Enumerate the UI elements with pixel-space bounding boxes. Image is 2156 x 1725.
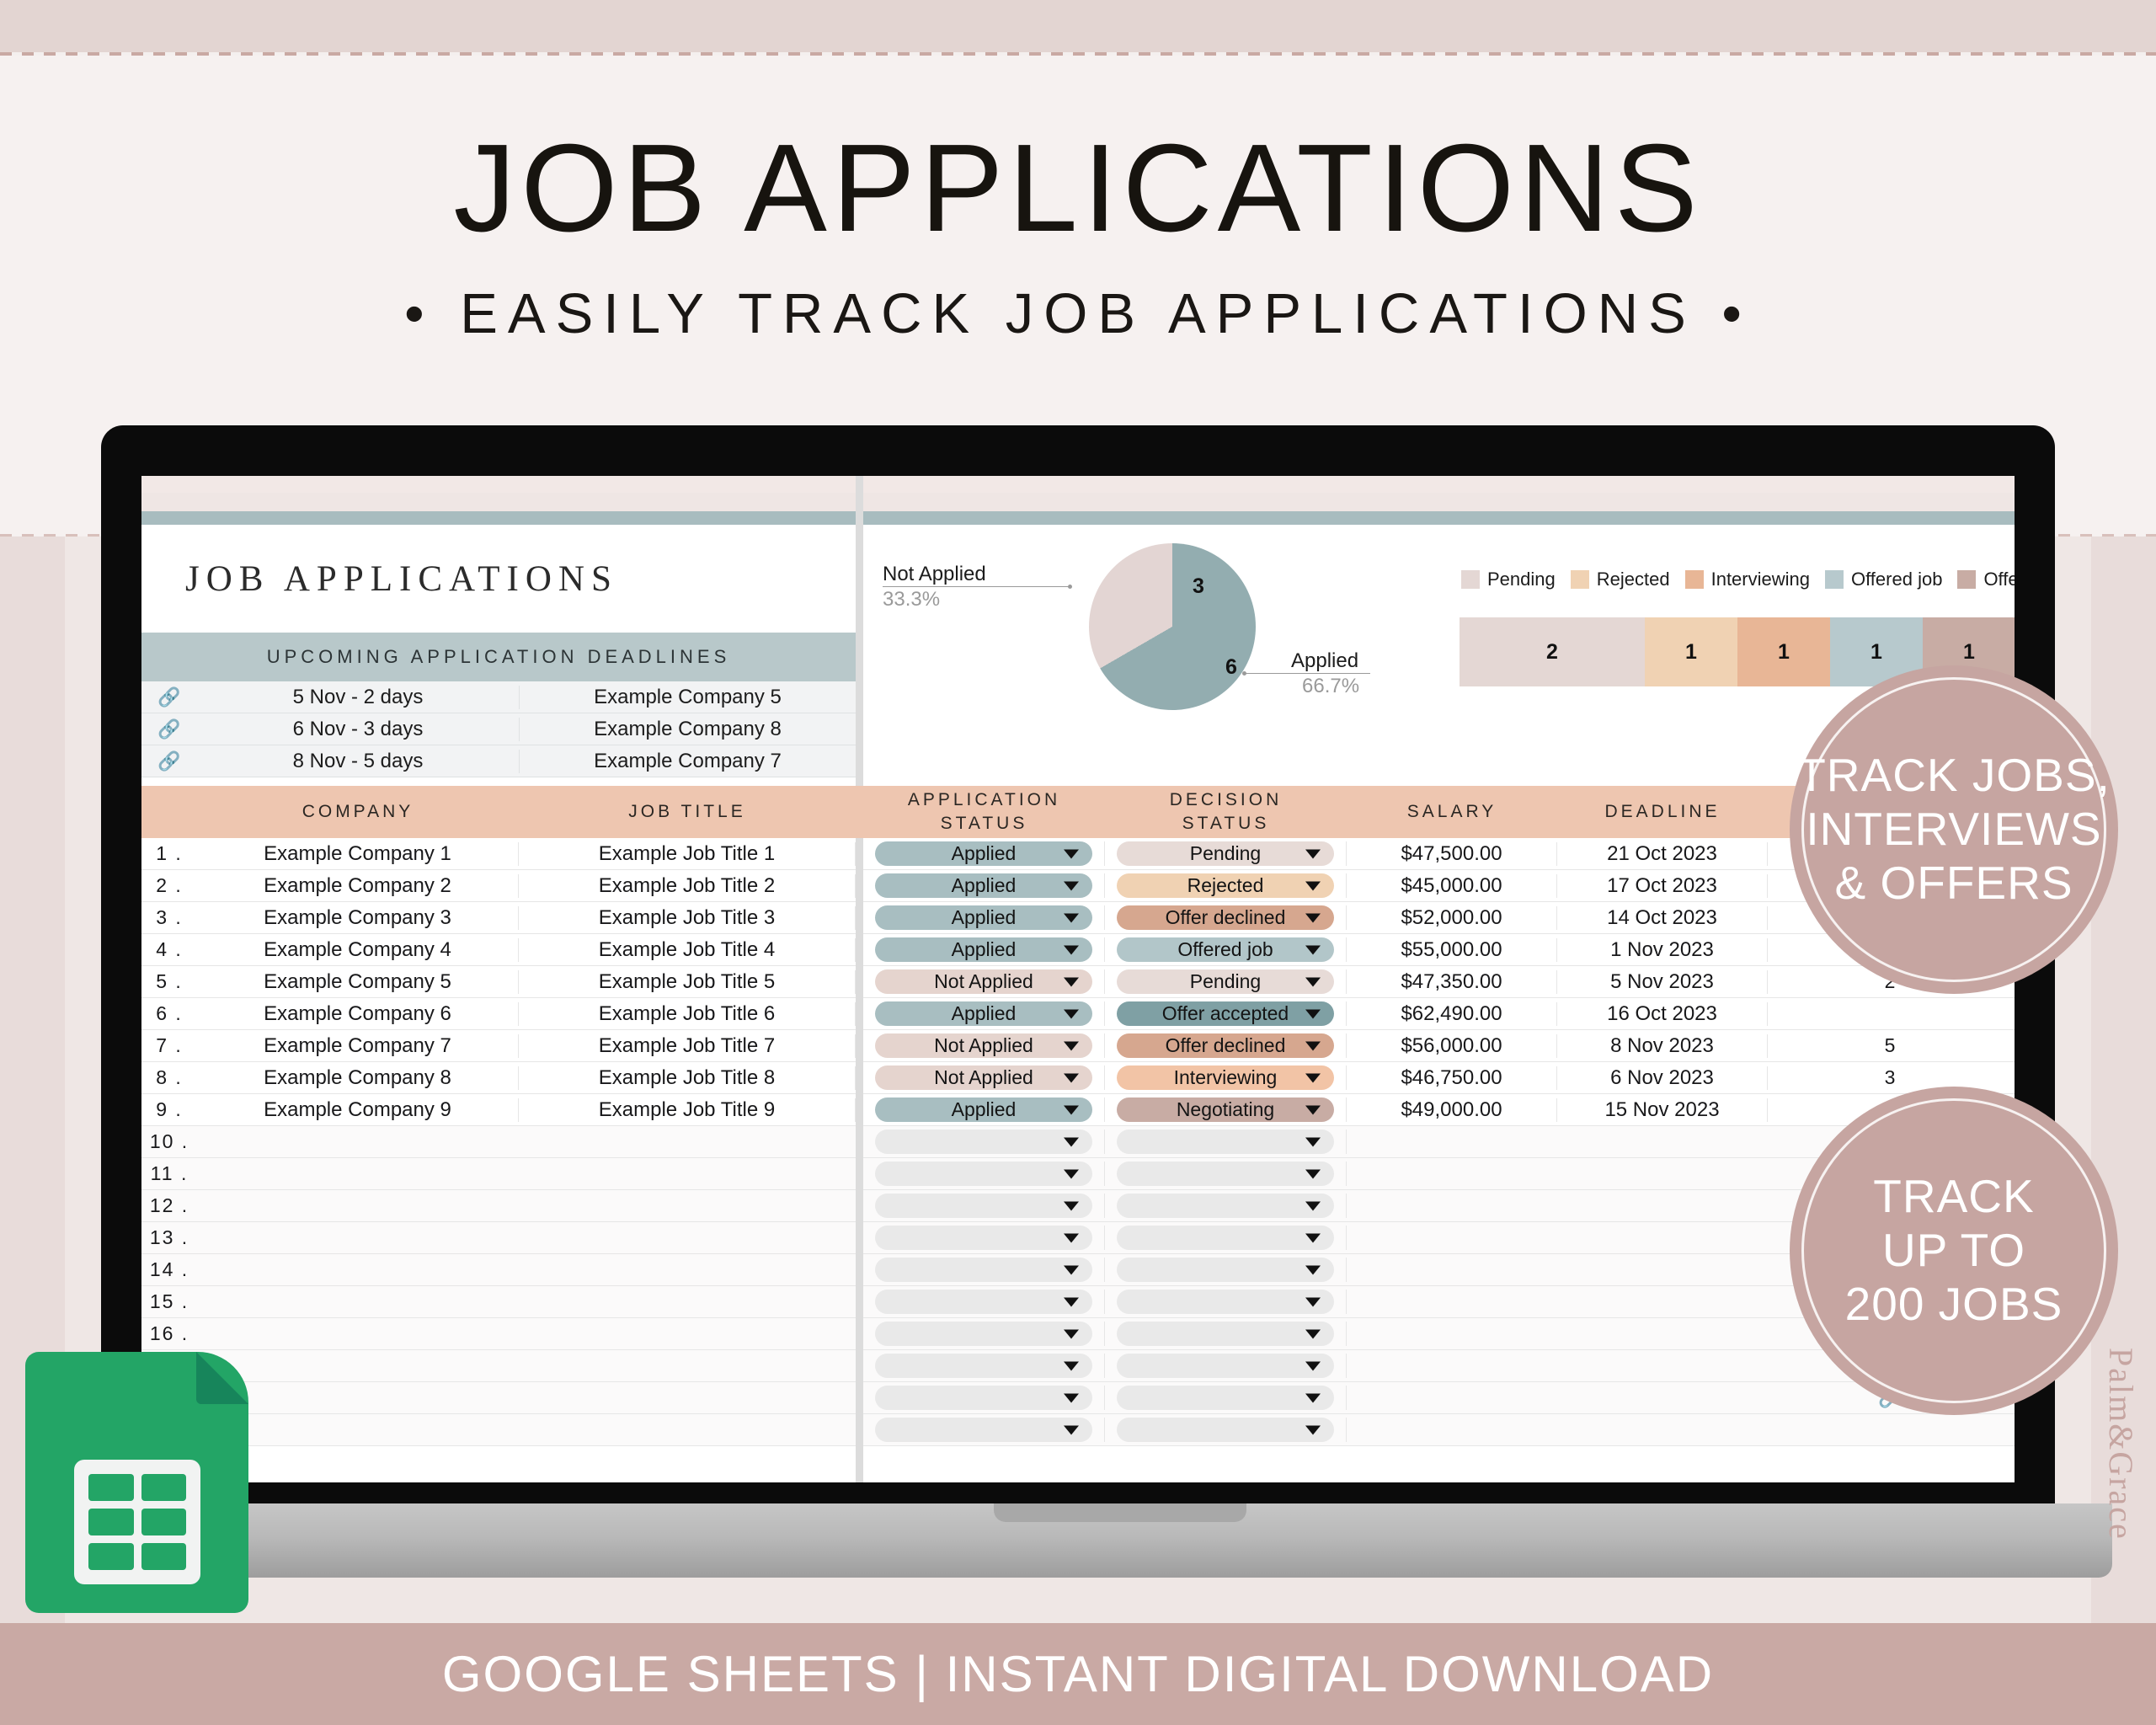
pie-label-applied: Applied <box>1291 649 1358 673</box>
cell-deadline[interactable]: 6 Nov 2023 <box>1557 1066 1768 1090</box>
cell-application-status[interactable] <box>863 1386 1105 1410</box>
chevron-down-icon[interactable] <box>1305 1041 1321 1050</box>
chevron-down-icon[interactable] <box>1305 1329 1321 1338</box>
cell-application-status[interactable]: Applied <box>863 1097 1105 1122</box>
link-icon[interactable]: 🔗 <box>141 750 197 772</box>
pie-leader-dot-applied <box>1242 671 1246 676</box>
cell-gap <box>856 1094 863 1126</box>
row-index: 2 . <box>141 874 197 897</box>
chevron-down-icon[interactable] <box>1064 1009 1079 1018</box>
legend-item: Interviewing <box>1685 569 1810 590</box>
pie-value-not-applied: 3 <box>1193 574 1204 599</box>
deadline-row[interactable]: 🔗6 Nov - 3 daysExample Company 8 <box>141 713 856 745</box>
application-status-dropdown[interactable] <box>875 1354 1092 1378</box>
cell-salary[interactable]: $45,000.00 <box>1347 874 1557 898</box>
cell-gap <box>856 998 863 1030</box>
bar-chart-legend: PendingRejectedInterviewingOffered jobOf… <box>1461 569 2015 590</box>
pie-value-applied: 6 <box>1225 655 1237 680</box>
decision-status-dropdown[interactable] <box>1117 1162 1334 1186</box>
cell-company[interactable]: Example Company 1 <box>197 842 519 866</box>
deadline-date: 8 Nov - 5 days <box>197 750 519 773</box>
cell-job-title[interactable]: Example Job Title 4 <box>519 938 856 962</box>
deadline-row[interactable]: 🔗8 Nov - 5 daysExample Company 7 <box>141 745 856 777</box>
decision-status-dropdown[interactable] <box>1117 1354 1334 1378</box>
table-row[interactable]: 12 . <box>141 1190 2015 1222</box>
decision-status-dropdown[interactable] <box>1117 1290 1334 1314</box>
cell-gap <box>856 902 863 934</box>
cell-gap <box>856 1286 863 1318</box>
sheet-toolbar-strip-secondary <box>141 493 2015 511</box>
cell-gap <box>856 1062 863 1094</box>
cell-application-status[interactable]: Not Applied <box>863 1033 1105 1058</box>
row-index: 11 . <box>141 1162 197 1185</box>
badge-track-jobs-text: TRACK JOBS, INTERVIEWS & OFFERS <box>1797 749 2111 910</box>
table-row[interactable]: 🔗 <box>141 1350 2015 1382</box>
decision-status-dropdown[interactable] <box>1117 1130 1334 1154</box>
application-status-pie-chart: 3 6 Not Applied 33.3% Applied 66.7% <box>863 525 1453 786</box>
row-index: 6 . <box>141 1002 197 1025</box>
application-status-dropdown[interactable]: Applied <box>875 841 1092 866</box>
bar-segment: 1 <box>1737 617 1830 686</box>
cell-company[interactable]: Example Company 9 <box>197 1098 519 1122</box>
cell-decision-status[interactable]: Offer declined <box>1105 905 1347 930</box>
cell-deadline[interactable]: 1 Nov 2023 <box>1557 938 1768 962</box>
bar-segment: 1 <box>1645 617 1737 686</box>
deadline-date: 6 Nov - 3 days <box>197 718 519 741</box>
decision-status-label: Rejected <box>1187 874 1264 897</box>
table-row[interactable]: 🔗 <box>141 1382 2015 1414</box>
column-header-decision-status: DECISION STATUS <box>1105 788 1347 836</box>
cell-application-status[interactable] <box>863 1258 1105 1282</box>
table-row[interactable] <box>141 1414 2015 1446</box>
application-status-label: Applied <box>952 906 1017 929</box>
cell-job-title[interactable]: Example Job Title 7 <box>519 1034 856 1058</box>
cell-decision-status[interactable]: Pending <box>1105 841 1347 866</box>
deadlines-header: UPCOMING APPLICATION DEADLINES <box>141 633 856 681</box>
cell-job-title[interactable]: Example Job Title 1 <box>519 842 856 866</box>
cell-company[interactable]: Example Company 4 <box>197 938 519 962</box>
cell-decision-status[interactable] <box>1105 1354 1347 1378</box>
cell-salary[interactable]: $62,490.00 <box>1347 1002 1557 1026</box>
cell-application-status[interactable]: Applied <box>863 873 1105 898</box>
application-status-dropdown[interactable] <box>875 1162 1092 1186</box>
spreadsheet: JOB APPLICATIONS UPCOMING APPLICATION DE… <box>141 476 2015 1482</box>
cell-job-title[interactable]: Example Job Title 6 <box>519 1002 856 1026</box>
row-index: 5 . <box>141 970 197 993</box>
decision-status-label: Offer accepted <box>1162 1002 1289 1025</box>
cell-gap <box>856 1222 863 1254</box>
chevron-down-icon[interactable] <box>1064 913 1079 922</box>
decision-status-label: Negotiating <box>1177 1098 1274 1121</box>
cell-gap <box>856 1158 863 1190</box>
table-row[interactable]: 6 .Example Company 6Example Job Title 6A… <box>141 998 2015 1030</box>
table-row[interactable]: 15 . <box>141 1286 2015 1318</box>
bar-segment: 2 <box>1460 617 1645 686</box>
chevron-down-icon[interactable] <box>1064 1297 1079 1306</box>
decision-status-dropdown[interactable]: Pending <box>1117 841 1334 866</box>
pie-label-not-applied: Not Applied <box>883 563 986 586</box>
decision-status-dropdown[interactable]: Offer accepted <box>1117 1001 1334 1026</box>
application-status-dropdown[interactable] <box>875 1418 1092 1442</box>
decision-status-dropdown[interactable] <box>1117 1322 1334 1346</box>
decision-status-label: Offered job <box>1177 938 1273 961</box>
chevron-down-icon[interactable] <box>1305 1201 1321 1210</box>
cell-decision-status[interactable] <box>1105 1258 1347 1282</box>
table-row[interactable]: 10 . <box>141 1126 2015 1158</box>
application-status-label: Applied <box>952 1002 1017 1025</box>
chevron-down-icon[interactable] <box>1305 1361 1321 1370</box>
chevron-down-icon[interactable] <box>1064 1425 1079 1434</box>
application-status-label: Applied <box>952 938 1017 961</box>
top-band <box>0 0 2156 52</box>
table-row[interactable]: 16 . <box>141 1318 2015 1350</box>
row-index: 12 . <box>141 1194 197 1217</box>
cell-decision-status[interactable] <box>1105 1290 1347 1314</box>
chevron-down-icon[interactable] <box>1064 1073 1079 1082</box>
cell-gap <box>856 934 863 966</box>
row-index: 7 . <box>141 1034 197 1057</box>
decision-status-label: Offer declined <box>1166 906 1286 929</box>
decision-status-label: Pending <box>1190 970 1261 993</box>
chevron-down-icon[interactable] <box>1064 1361 1079 1370</box>
application-status-dropdown[interactable] <box>875 1194 1092 1218</box>
cell-job-title[interactable]: Example Job Title 8 <box>519 1066 856 1090</box>
deadline-date: 5 Nov - 2 days <box>197 686 519 709</box>
decision-status-label: Interviewing <box>1174 1066 1278 1089</box>
legend-swatch <box>1571 570 1589 589</box>
sheets-grid-glyph <box>74 1460 200 1584</box>
brand-watermark: Palm&Grace <box>2101 1348 2141 1541</box>
column-header-company: COMPANY <box>197 800 519 824</box>
cell-decision-status[interactable]: Pending <box>1105 969 1347 994</box>
laptop-screen: JOB APPLICATIONS UPCOMING APPLICATION DE… <box>141 476 2015 1482</box>
application-status-label: Applied <box>952 874 1017 897</box>
row-index: 16 . <box>141 1322 197 1345</box>
cell-decision-status[interactable]: Offer accepted <box>1105 1001 1347 1026</box>
cell-deadline[interactable]: 16 Oct 2023 <box>1557 1002 1768 1026</box>
table-row[interactable]: 13 . <box>141 1222 2015 1254</box>
legend-item: Rejected <box>1571 569 1670 590</box>
application-status-label: Applied <box>952 1098 1017 1121</box>
cell-application-status[interactable] <box>863 1162 1105 1186</box>
cell-application-status[interactable] <box>863 1226 1105 1250</box>
chevron-down-icon[interactable] <box>1305 1137 1321 1146</box>
cell-decision-status[interactable]: Offered job <box>1105 937 1347 962</box>
pie-leader-line-applied <box>1244 673 1370 674</box>
cell-deadline[interactable]: 21 Oct 2023 <box>1557 842 1768 866</box>
pie-leader-line-not-applied <box>883 586 1070 587</box>
row-index: 10 . <box>141 1130 197 1153</box>
cell-days[interactable]: 5 <box>1768 1034 2012 1057</box>
chevron-down-icon[interactable] <box>1064 1329 1079 1338</box>
decision-status-dropdown[interactable] <box>1117 1386 1334 1410</box>
table-row[interactable]: 11 . <box>141 1158 2015 1190</box>
cell-decision-status[interactable] <box>1105 1322 1347 1346</box>
cell-salary[interactable]: $49,000.00 <box>1347 1098 1557 1122</box>
cell-gap <box>856 1190 863 1222</box>
deadline-company: Example Company 8 <box>519 718 856 741</box>
cell-application-status[interactable]: Not Applied <box>863 969 1105 994</box>
pie-graphic <box>1089 543 1256 710</box>
chevron-down-icon[interactable] <box>1064 849 1079 858</box>
decision-status-dropdown[interactable]: Pending <box>1117 969 1334 994</box>
legend-label: Interviewing <box>1711 569 1810 590</box>
table-body: 1 .Example Company 1Example Job Title 1A… <box>141 838 2015 1446</box>
bottom-banner: GOOGLE SHEETS | INSTANT DIGITAL DOWNLOAD <box>0 1623 2156 1725</box>
cell-days[interactable]: 3 <box>1768 1066 2012 1089</box>
application-status-dropdown[interactable] <box>875 1226 1092 1250</box>
application-status-dropdown[interactable]: Applied <box>875 1001 1092 1026</box>
cell-decision-status[interactable] <box>1105 1386 1347 1410</box>
legend-label: Pending <box>1487 569 1556 590</box>
cell-application-status[interactable] <box>863 1418 1105 1442</box>
page-subtitle: • EASILY TRACK JOB APPLICATIONS • <box>0 281 2156 346</box>
chevron-down-icon[interactable] <box>1305 1073 1321 1082</box>
chevron-down-icon[interactable] <box>1305 1265 1321 1274</box>
cell-application-status[interactable] <box>863 1354 1105 1378</box>
chevron-down-icon[interactable] <box>1305 1393 1321 1402</box>
cell-job-title[interactable]: Example Job Title 9 <box>519 1098 856 1122</box>
cell-gap <box>856 1318 863 1350</box>
legend-swatch <box>1825 570 1844 589</box>
chevron-down-icon[interactable] <box>1064 977 1079 986</box>
row-index: 14 . <box>141 1258 197 1281</box>
decision-status-dropdown[interactable] <box>1117 1258 1334 1282</box>
table-row[interactable]: 5 .Example Company 5Example Job Title 5N… <box>141 966 2015 998</box>
table-row[interactable]: 8 .Example Company 8Example Job Title 8N… <box>141 1062 2015 1094</box>
link-icon[interactable]: 🔗 <box>141 718 197 740</box>
chevron-down-icon[interactable] <box>1305 1009 1321 1018</box>
cell-salary[interactable]: $52,000.00 <box>1347 906 1557 930</box>
row-index: 1 . <box>141 842 197 865</box>
hero-block: JOB APPLICATIONS • EASILY TRACK JOB APPL… <box>0 126 2156 346</box>
cell-gap <box>856 1254 863 1286</box>
column-header-application-status: APPLICATION STATUS <box>863 788 1105 836</box>
chevron-down-icon[interactable] <box>1064 1201 1079 1210</box>
decision-status-label: Offer declined <box>1166 1034 1286 1057</box>
cell-application-status[interactable]: Applied <box>863 1001 1105 1026</box>
bottom-banner-text: GOOGLE SHEETS | INSTANT DIGITAL DOWNLOAD <box>442 1645 1714 1703</box>
decision-status-dropdown[interactable]: Rejected <box>1117 873 1334 898</box>
cell-salary[interactable]: $47,350.00 <box>1347 970 1557 994</box>
cell-company[interactable]: Example Company 7 <box>197 1034 519 1058</box>
decision-status-dropdown[interactable] <box>1117 1194 1334 1218</box>
chevron-down-icon[interactable] <box>1064 1233 1079 1242</box>
sheet-panel-title: JOB APPLICATIONS <box>141 525 856 633</box>
cell-application-status[interactable] <box>863 1194 1105 1218</box>
cell-decision-status[interactable] <box>1105 1194 1347 1218</box>
column-header-job-title: JOB TITLE <box>519 800 856 824</box>
pie-leader-dot-not-applied <box>1068 585 1072 589</box>
decision-status-dropdown[interactable] <box>1117 1418 1334 1442</box>
legend-swatch <box>1461 570 1480 589</box>
row-index: 8 . <box>141 1066 197 1089</box>
cell-decision-status[interactable]: Rejected <box>1105 873 1347 898</box>
row-index: 13 . <box>141 1226 197 1249</box>
cell-gap <box>856 838 863 870</box>
table-row[interactable]: 14 . <box>141 1254 2015 1286</box>
application-status-dropdown[interactable]: Not Applied <box>875 1065 1092 1090</box>
cell-salary[interactable]: $47,500.00 <box>1347 842 1557 866</box>
row-index: 15 . <box>141 1290 197 1313</box>
pie-percent-not-applied: 33.3% <box>883 588 940 611</box>
cell-salary[interactable]: $55,000.00 <box>1347 938 1557 962</box>
cell-job-title[interactable]: Example Job Title 2 <box>519 874 856 898</box>
cell-job-title[interactable]: Example Job Title 5 <box>519 970 856 994</box>
application-status-dropdown[interactable]: Applied <box>875 873 1092 898</box>
cell-application-status[interactable] <box>863 1322 1105 1346</box>
cell-deadline[interactable]: 5 Nov 2023 <box>1557 970 1768 994</box>
cell-deadline[interactable]: 17 Oct 2023 <box>1557 874 1768 898</box>
decision-status-label: Pending <box>1190 842 1261 865</box>
legend-swatch <box>1957 570 1976 589</box>
chevron-down-icon[interactable] <box>1305 913 1321 922</box>
cell-decision-status[interactable]: Offer declined <box>1105 1033 1347 1058</box>
cell-decision-status[interactable]: Negotiating <box>1105 1097 1347 1122</box>
cell-decision-status[interactable] <box>1105 1162 1347 1186</box>
badge-track-jobs: TRACK JOBS, INTERVIEWS & OFFERS <box>1790 665 2118 994</box>
cell-application-status[interactable] <box>863 1130 1105 1154</box>
column-header-deadline: DEADLINE <box>1557 800 1768 824</box>
deadline-row[interactable]: 🔗5 Nov - 2 daysExample Company 5 <box>141 681 856 713</box>
cell-application-status[interactable] <box>863 1290 1105 1314</box>
cell-company[interactable]: Example Company 3 <box>197 906 519 930</box>
table-row[interactable]: 7 .Example Company 7Example Job Title 7N… <box>141 1030 2015 1062</box>
legend-label: Offer accepted <box>1983 569 2015 590</box>
cell-company[interactable]: Example Company 2 <box>197 874 519 898</box>
cell-salary[interactable]: $46,750.00 <box>1347 1066 1557 1090</box>
deadline-company: Example Company 7 <box>519 750 856 773</box>
badge-track-200-jobs-text: TRACK UP TO 200 JOBS <box>1845 1170 2063 1331</box>
legend-label: Rejected <box>1597 569 1670 590</box>
chevron-down-icon[interactable] <box>1064 1105 1079 1114</box>
cell-gap <box>856 1030 863 1062</box>
chevron-down-icon[interactable] <box>1064 1393 1079 1402</box>
chevron-down-icon[interactable] <box>1305 1169 1321 1178</box>
decision-status-dropdown[interactable]: Offer declined <box>1117 1033 1334 1058</box>
sheet-panel-title-text: JOB APPLICATIONS <box>141 558 618 600</box>
legend-item: Offer accepted <box>1957 569 2015 590</box>
application-status-dropdown[interactable]: Applied <box>875 905 1092 930</box>
chevron-down-icon[interactable] <box>1305 977 1321 986</box>
cell-application-status[interactable]: Applied <box>863 937 1105 962</box>
chevron-down-icon[interactable] <box>1064 881 1079 890</box>
table-row[interactable]: 4 .Example Company 4Example Job Title 4A… <box>141 934 2015 966</box>
decision-status-dropdown[interactable] <box>1117 1226 1334 1250</box>
application-status-dropdown[interactable]: Applied <box>875 937 1092 962</box>
row-index: 4 . <box>141 938 197 961</box>
application-status-dropdown[interactable] <box>875 1130 1092 1154</box>
cell-deadline[interactable]: 15 Nov 2023 <box>1557 1098 1768 1122</box>
chevron-down-icon[interactable] <box>1305 1297 1321 1306</box>
application-status-dropdown[interactable]: Not Applied <box>875 969 1092 994</box>
cell-salary[interactable]: $56,000.00 <box>1347 1034 1557 1058</box>
cell-job-title[interactable]: Example Job Title 3 <box>519 906 856 930</box>
row-index: 3 . <box>141 906 197 929</box>
laptop-mockup: JOB APPLICATIONS UPCOMING APPLICATION DE… <box>101 425 2055 1529</box>
legend-label: Offered job <box>1851 569 1942 590</box>
cell-decision-status[interactable] <box>1105 1418 1347 1442</box>
pie-percent-applied: 66.7% <box>1302 675 1359 698</box>
cell-decision-status[interactable] <box>1105 1226 1347 1250</box>
chevron-down-icon[interactable] <box>1305 945 1321 954</box>
application-status-dropdown[interactable]: Not Applied <box>875 1033 1092 1058</box>
chevron-down-icon[interactable] <box>1305 849 1321 858</box>
application-status-dropdown[interactable] <box>875 1386 1092 1410</box>
application-status-dropdown[interactable] <box>875 1290 1092 1314</box>
badge-track-200-jobs: TRACK UP TO 200 JOBS <box>1790 1087 2118 1415</box>
cell-application-status[interactable]: Applied <box>863 905 1105 930</box>
google-sheets-icon <box>25 1352 248 1613</box>
chevron-down-icon[interactable] <box>1064 1041 1079 1050</box>
chevron-down-icon[interactable] <box>1064 1137 1079 1146</box>
dashed-divider-top <box>0 52 2156 56</box>
legend-item: Pending <box>1461 569 1556 590</box>
cell-gap <box>856 870 863 902</box>
table-row[interactable]: 3 .Example Company 3Example Job Title 3A… <box>141 902 2015 934</box>
application-status-dropdown[interactable]: Applied <box>875 1097 1092 1122</box>
chevron-down-icon[interactable] <box>1305 881 1321 890</box>
legend-swatch <box>1685 570 1704 589</box>
chevron-down-icon[interactable] <box>1305 1105 1321 1114</box>
cell-company[interactable]: Example Company 5 <box>197 970 519 994</box>
cell-decision-status[interactable] <box>1105 1130 1347 1154</box>
chevron-down-icon[interactable] <box>1064 1169 1079 1178</box>
table-header-row: COMPANY JOB TITLE APPLICATION STATUS DEC… <box>141 786 2015 838</box>
page-title: JOB APPLICATIONS <box>0 126 2156 251</box>
cell-gap <box>856 1382 863 1414</box>
decision-status-dropdown[interactable]: Offered job <box>1117 937 1334 962</box>
cell-gap <box>856 1350 863 1382</box>
chevron-down-icon[interactable] <box>1064 1265 1079 1274</box>
cell-gap <box>856 1414 863 1446</box>
table-row[interactable]: 9 .Example Company 9Example Job Title 9A… <box>141 1094 2015 1126</box>
application-status-dropdown[interactable] <box>875 1258 1092 1282</box>
cell-gap <box>856 1126 863 1158</box>
row-index: 9 . <box>141 1098 197 1121</box>
sheet-accent-bar <box>141 511 2015 525</box>
cell-deadline[interactable]: 8 Nov 2023 <box>1557 1034 1768 1058</box>
application-status-label: Not Applied <box>934 1034 1033 1057</box>
decision-status-dropdown[interactable]: Interviewing <box>1117 1065 1334 1090</box>
deadlines-header-text: UPCOMING APPLICATION DEADLINES <box>267 646 731 668</box>
cell-gap <box>856 966 863 998</box>
chevron-down-icon[interactable] <box>1064 945 1079 954</box>
chevron-down-icon[interactable] <box>1305 1233 1321 1242</box>
application-status-label: Applied <box>952 842 1017 865</box>
link-icon[interactable]: 🔗 <box>141 686 197 708</box>
application-status-dropdown[interactable] <box>875 1322 1092 1346</box>
chevron-down-icon[interactable] <box>1305 1425 1321 1434</box>
legend-item: Offered job <box>1825 569 1942 590</box>
cell-application-status[interactable]: Applied <box>863 841 1105 866</box>
decision-status-dropdown[interactable]: Offer declined <box>1117 905 1334 930</box>
cell-company[interactable]: Example Company 8 <box>197 1066 519 1090</box>
deadline-company: Example Company 5 <box>519 686 856 709</box>
cell-application-status[interactable]: Not Applied <box>863 1065 1105 1090</box>
table-row[interactable]: 1 .Example Company 1Example Job Title 1A… <box>141 838 2015 870</box>
decision-status-dropdown[interactable]: Negotiating <box>1117 1097 1334 1122</box>
table-row[interactable]: 2 .Example Company 2Example Job Title 2A… <box>141 870 2015 902</box>
column-header-salary: SALARY <box>1347 800 1557 824</box>
application-status-label: Not Applied <box>934 1066 1033 1089</box>
cell-company[interactable]: Example Company 6 <box>197 1002 519 1026</box>
application-status-label: Not Applied <box>934 970 1033 993</box>
laptop-trackpad-notch <box>994 1503 1246 1522</box>
cell-decision-status[interactable]: Interviewing <box>1105 1065 1347 1090</box>
cell-deadline[interactable]: 14 Oct 2023 <box>1557 906 1768 930</box>
